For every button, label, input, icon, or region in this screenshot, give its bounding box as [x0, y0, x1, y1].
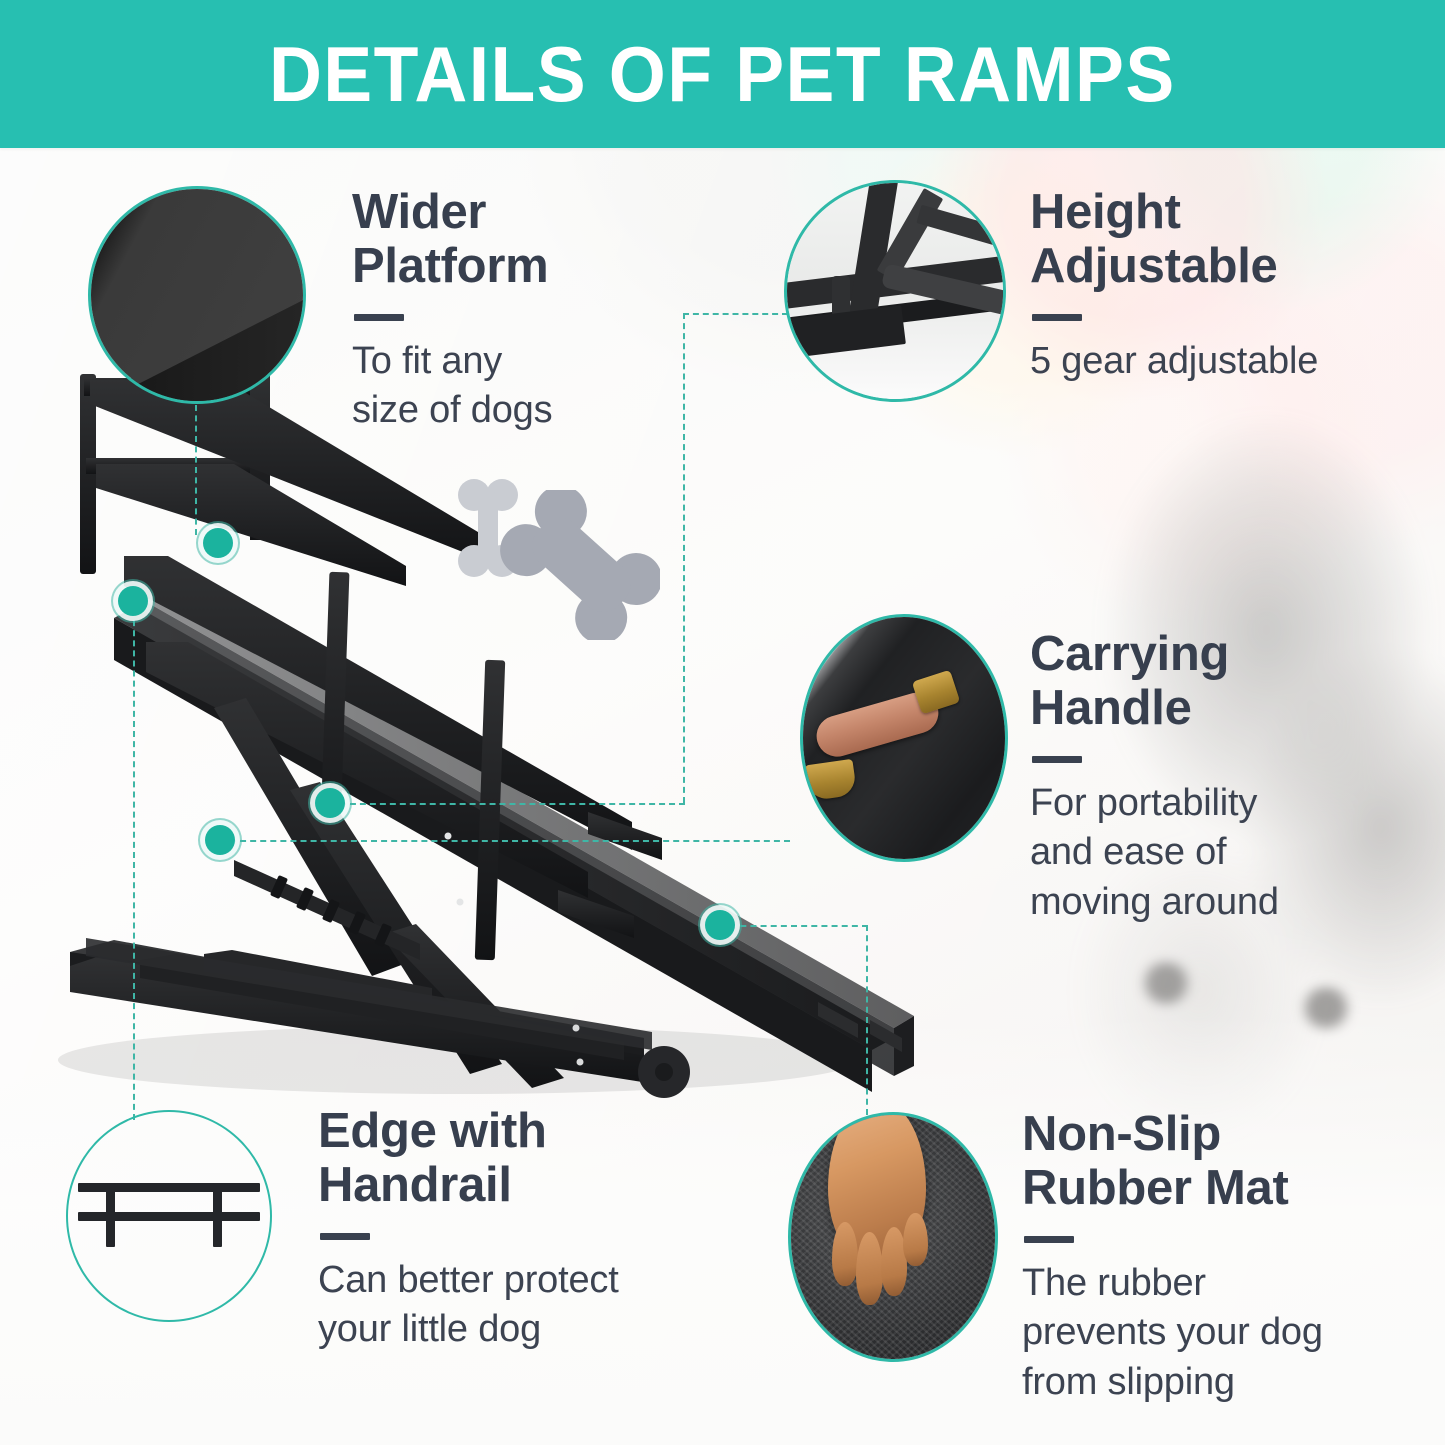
anchor-dot-wider-platform [203, 528, 233, 558]
feature-height-adjustable: Height Adjustable 5 gear adjustable [1030, 186, 1430, 386]
feature-title: Wider Platform [352, 186, 672, 294]
feature-title: Carrying Handle [1030, 628, 1400, 736]
page-title: DETAILS OF PET RAMPS [269, 35, 1176, 113]
paw-toe-2 [856, 1232, 883, 1305]
header-banner: DETAILS OF PET RAMPS [0, 0, 1445, 148]
paw-toe-4 [903, 1213, 927, 1267]
callout-circle-wider-platform [88, 186, 306, 404]
platform-closeup-photo [91, 189, 303, 401]
feature-description: For portability and ease of moving aroun… [1030, 779, 1400, 927]
feature-description: The rubber prevents your dog from slippi… [1022, 1259, 1432, 1407]
anchor-dot-edge-handrail [118, 586, 148, 616]
feature-description: To fit any size of dogs [352, 337, 672, 436]
brass-buckle-top [912, 670, 961, 715]
connector-carrying-handle [230, 840, 790, 842]
feature-wider-platform: Wider Platform To fit any size of dogs [352, 186, 672, 436]
feature-nonslip-mat: Non-Slip Rubber Mat The rubber prevents … [1022, 1108, 1432, 1407]
feature-description: 5 gear adjustable [1030, 337, 1430, 386]
bone-large-icon [500, 490, 660, 645]
title-divider [354, 314, 404, 321]
connector-nonslip-vertical [866, 925, 868, 1115]
feature-title: Edge with Handrail [318, 1105, 738, 1213]
callout-circle-height-adjustable [784, 180, 1006, 402]
callout-circle-carrying-handle [800, 614, 1008, 862]
hinge-gear-closeup-photo [787, 183, 1003, 399]
callout-circle-edge-handrail [66, 1110, 272, 1322]
callout-circle-nonslip-mat [788, 1112, 998, 1362]
feature-title: Non-Slip Rubber Mat [1022, 1108, 1432, 1216]
anchor-dot-height-adjustable [315, 788, 345, 818]
infographic-canvas: DETAILS OF PET RAMPS [0, 0, 1445, 1445]
connector-edge-handrail-vertical [133, 600, 135, 1120]
handrail-diagram-icon [68, 1112, 270, 1320]
leather-handle-closeup-photo [803, 617, 1005, 859]
anchor-dot-carrying-handle [205, 825, 235, 855]
connector-wider-platform [195, 405, 197, 535]
feature-title: Height Adjustable [1030, 186, 1430, 294]
connector-nonslip-top [720, 925, 868, 927]
connector-height-adjustable-bottom [330, 803, 685, 805]
feature-description: Can better protect your little dog [318, 1256, 738, 1355]
feature-carrying-handle: Carrying Handle For portability and ease… [1030, 628, 1400, 927]
brass-plate-bottom [805, 759, 858, 802]
feature-edge-handrail: Edge with Handrail Can better protect yo… [318, 1105, 738, 1355]
connector-height-adjustable-top [683, 313, 788, 315]
anchor-dot-nonslip-mat [705, 910, 735, 940]
title-divider [1024, 1236, 1074, 1243]
title-divider [1032, 756, 1082, 763]
title-divider [1032, 314, 1082, 321]
dog-paw-on-rubber-mat-photo [791, 1115, 995, 1359]
connector-height-adjustable-vertical [683, 313, 685, 803]
title-divider [320, 1233, 370, 1240]
